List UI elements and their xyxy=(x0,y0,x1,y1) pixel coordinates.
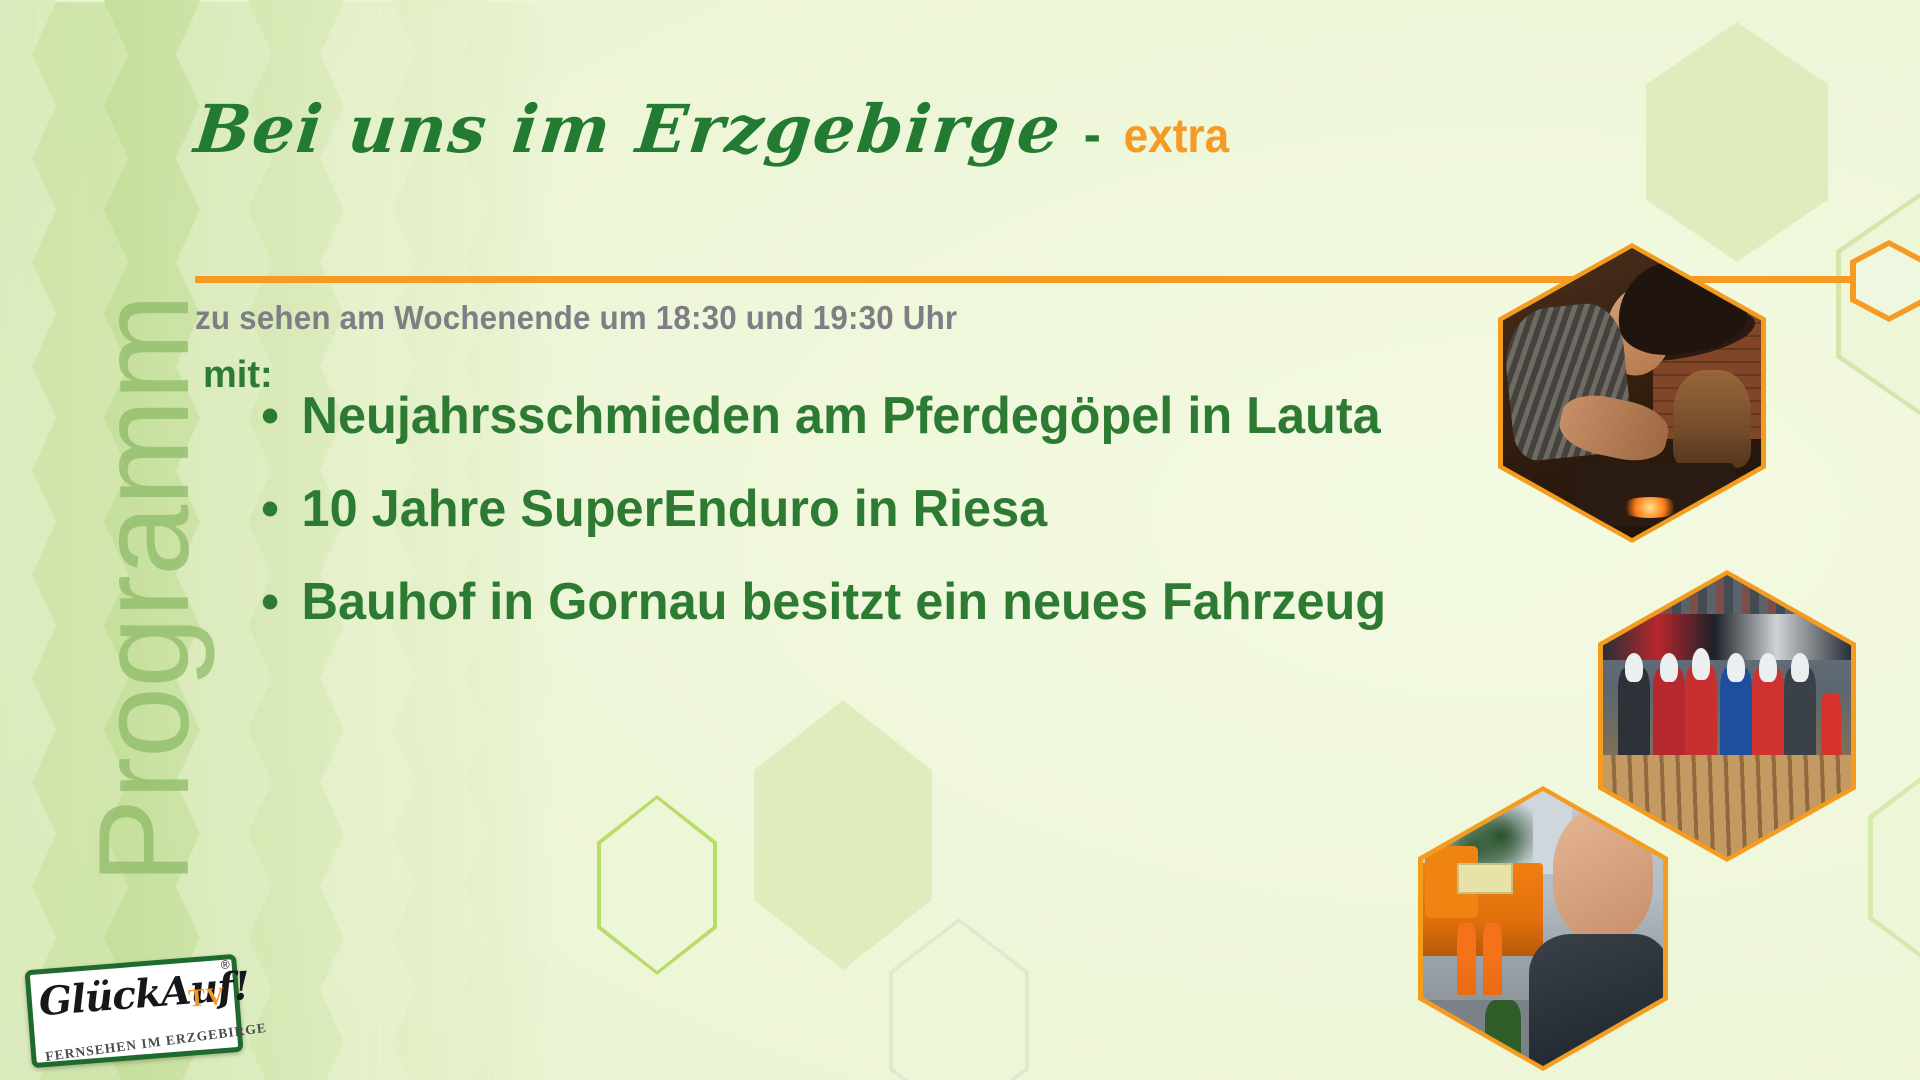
list-item: Neujahrsschmieden am Pferdegöpel in Laut… xyxy=(255,390,1448,442)
hexagon-tile xyxy=(320,730,416,834)
hexagon-tile xyxy=(392,678,488,782)
hexagon-tile xyxy=(0,574,56,678)
hexagon-tile xyxy=(320,1042,416,1080)
hexagon-tile xyxy=(248,886,344,990)
title-dash: - xyxy=(1084,109,1103,161)
hexagon-tile xyxy=(392,990,488,1080)
hexagon-tile xyxy=(536,678,632,782)
blacksmith-scene xyxy=(1503,248,1761,538)
section-label-programm: Programm xyxy=(81,184,209,884)
show-title-extra-badge: extra xyxy=(1124,113,1230,161)
hexagon-tile xyxy=(464,730,560,834)
hexagon-tile xyxy=(0,0,56,54)
bullet-dot-icon xyxy=(263,595,278,610)
broadcast-time-text: zu sehen am Wochenende um 18:30 und 19:3… xyxy=(195,299,957,337)
bullet-dot-icon xyxy=(263,502,278,517)
hexagon-tile xyxy=(248,0,344,54)
photo-hexagon-bauhof xyxy=(1418,786,1668,1071)
header-block: Bei uns im Erzgebirge - extra zu sehen a… xyxy=(195,96,1675,162)
background-hexagon-fill-center xyxy=(754,700,932,970)
hexagon-tile xyxy=(248,158,344,262)
hexagon-tile xyxy=(320,834,416,938)
topic-list: Neujahrsschmieden am Pferdegöpel in Laut… xyxy=(255,390,1485,669)
station-logo: GlückAuf! TV ® FERNSEHEN IM ERZGEBIRGE xyxy=(24,954,243,1068)
hexagon-tile xyxy=(104,0,200,54)
logo-registered-mark: ® xyxy=(220,957,230,972)
hexagon-tile xyxy=(248,678,344,782)
hexagon-tile xyxy=(0,158,56,262)
divider-hexagon-icon xyxy=(1850,240,1920,322)
background-hexagon-outline-farright xyxy=(1868,760,1920,975)
hexagon-tile xyxy=(536,0,632,54)
hexagon-tile xyxy=(0,366,56,470)
background-hexagon-outline-left xyxy=(597,795,717,975)
hexagon-tile xyxy=(0,262,56,366)
photo-hexagon-blacksmith xyxy=(1498,243,1766,543)
topic-text: Neujahrsschmieden am Pferdegöpel in Laut… xyxy=(302,387,1381,445)
program-slide: Programm Bei uns im Erzgebirge - extra z… xyxy=(0,0,1920,1080)
hexagon-tile xyxy=(104,54,200,158)
hexagon-tile xyxy=(464,1042,560,1080)
photo-inner xyxy=(1423,791,1663,1066)
topic-text: 10 Jahre SuperEnduro in Riesa xyxy=(302,480,1048,538)
hexagon-tile xyxy=(536,990,632,1080)
hexagon-tile xyxy=(608,1042,704,1080)
hexagon-tile xyxy=(0,54,56,158)
list-item: 10 Jahre SuperEnduro in Riesa xyxy=(255,483,1448,535)
bullet-dot-icon xyxy=(263,409,278,424)
hexagon-tile xyxy=(392,886,488,990)
hexagon-tile xyxy=(392,782,488,886)
logo-tv-mark: TV xyxy=(187,983,226,1014)
hexagon-tile xyxy=(0,678,56,782)
page-title: Bei uns im Erzgebirge - extra xyxy=(195,96,1675,162)
hexagon-tile xyxy=(320,938,416,1042)
background-hexagon-outline-bottom xyxy=(889,918,1029,1080)
show-title-main: Bei uns im Erzgebirge xyxy=(192,96,1066,162)
hexagon-tile xyxy=(536,158,632,262)
hexagon-tile xyxy=(32,2,128,106)
hexagon-tile xyxy=(0,470,56,574)
hexagon-tile xyxy=(392,0,488,54)
hexagon-tile xyxy=(464,834,560,938)
hexagon-tile xyxy=(464,938,560,1042)
hexagon-tile xyxy=(248,782,344,886)
topic-text: Bauhof in Gornau besitzt ein neues Fahrz… xyxy=(302,573,1387,631)
photo-inner xyxy=(1503,248,1761,538)
bauhof-interview-scene xyxy=(1423,791,1663,1066)
hexagon-tile xyxy=(0,782,56,886)
hexagon-tile xyxy=(392,158,488,262)
list-item: Bauhof in Gornau besitzt ein neues Fahrz… xyxy=(255,576,1448,628)
